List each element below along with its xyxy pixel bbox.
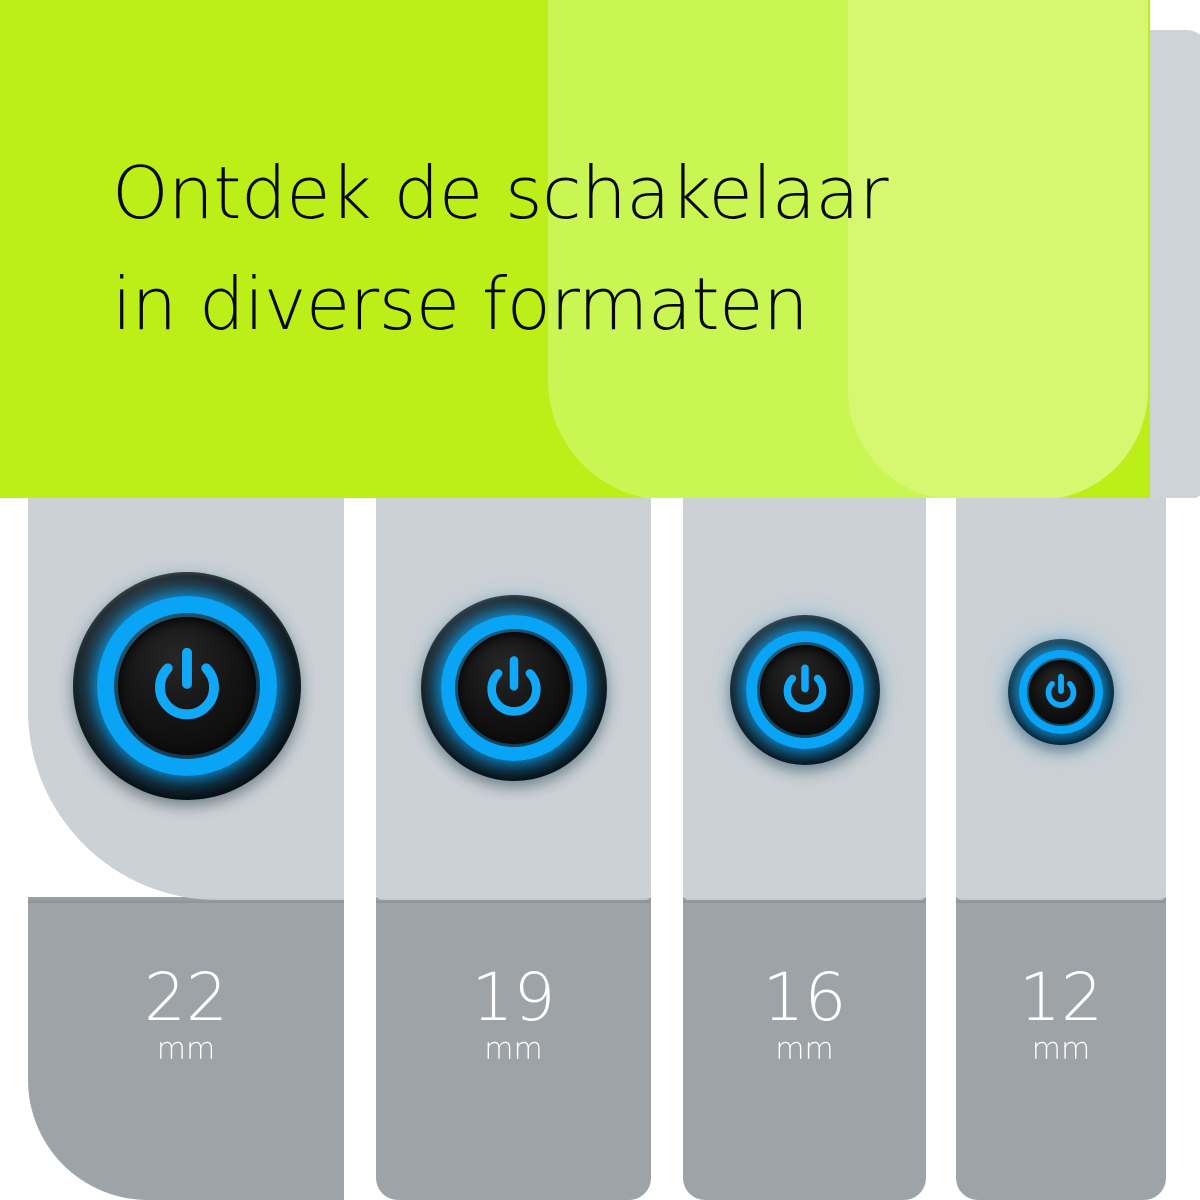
product-card-16mm[interactable]: 16 mm [683,498,926,1200]
card-lower-dark-19mm [376,897,651,1200]
product-card-19mm[interactable]: 19 mm [376,498,651,1200]
power-icon-12mm [1037,668,1085,716]
power-button-19mm[interactable] [421,595,607,781]
power-button-16mm[interactable] [730,615,880,765]
card-lower-dark-16mm [683,897,926,1200]
page-title: Ontdek de schakelaar in diverse formaten [112,138,1032,360]
promo-banner: Ontdek de schakelaar in diverse formaten [0,0,1200,1200]
product-card-12mm[interactable]: 12 mm [956,498,1166,1200]
power-icon-22mm [135,634,239,738]
power-icon-16mm [771,656,839,724]
card-lower-dark-22mm [28,897,344,1200]
power-button-22mm[interactable] [73,572,301,800]
card-lower-dark-12mm [956,897,1166,1200]
hero-section: Ontdek de schakelaar in diverse formaten [0,0,1200,498]
headline-line-1: Ontdek de schakelaar [112,138,1032,249]
power-icon-19mm [471,645,557,731]
headline-line-2: in diverse formaten [112,249,1032,360]
product-size-columns: 22 mm 19 mm [0,498,1200,1200]
power-button-12mm[interactable] [1008,639,1114,745]
product-card-22mm[interactable]: 22 mm [28,498,344,1200]
